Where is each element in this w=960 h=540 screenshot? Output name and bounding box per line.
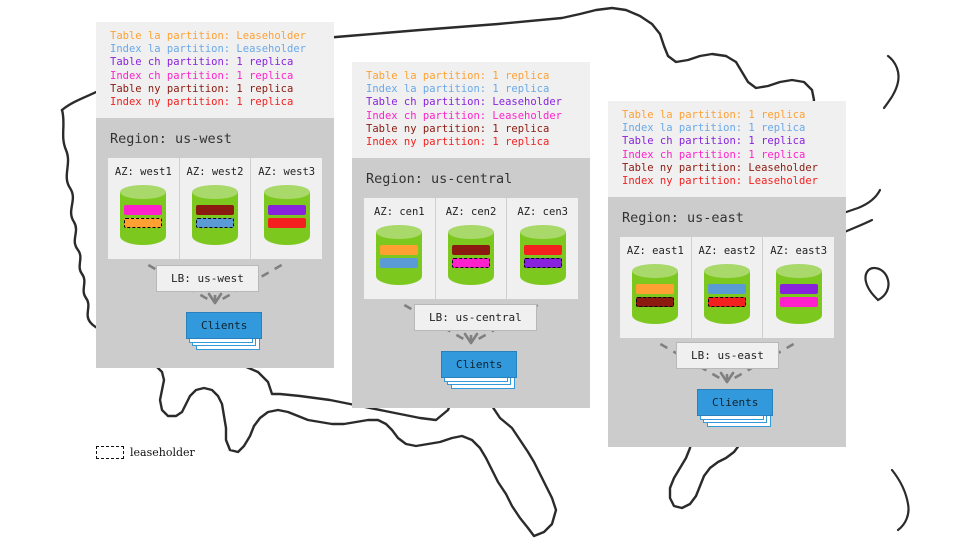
legend-line: Index la partition: 1 replica — [366, 83, 580, 96]
legend-line: Index ny partition: 1 replica — [366, 136, 580, 149]
load-balancer-us-east[interactable]: LB: us-east — [676, 342, 779, 369]
replica-stripes — [452, 245, 490, 271]
legend-line: Table ny partition: 1 replica — [110, 83, 324, 96]
legend-line: Table ch partition: 1 replica — [622, 135, 836, 148]
legend-line: Index ny partition: Leaseholder — [622, 175, 836, 188]
replica-stripe-table-la — [636, 284, 674, 294]
replica-stripes — [196, 205, 234, 231]
replica-stripe-table-ch — [268, 205, 306, 215]
database-cylinder-icon[interactable] — [776, 264, 822, 328]
clients-label[interactable]: Clients — [441, 351, 517, 378]
replica-stripes — [780, 284, 818, 310]
az-row: AZ: west1AZ: west2AZ: west3 — [108, 158, 322, 259]
az-label: AZ: east3 — [763, 245, 834, 257]
replica-stripes — [380, 245, 418, 271]
replica-stripe-table-ch — [780, 284, 818, 294]
az-label: AZ: cen3 — [507, 206, 578, 218]
legend-line: Index la partition: Leaseholder — [110, 43, 324, 56]
clients-stack-us-west[interactable]: Clients — [186, 312, 262, 352]
az-row: AZ: cen1AZ: cen2AZ: cen3 — [364, 198, 578, 299]
clients-label[interactable]: Clients — [697, 389, 773, 416]
replica-stripes — [124, 205, 162, 231]
replica-stripe-index-ch — [780, 297, 818, 307]
az-cell-west1[interactable]: AZ: west1 — [108, 158, 180, 259]
clients-stack-us-central[interactable]: Clients — [441, 351, 517, 391]
legend-line: Index ch partition: Leaseholder — [366, 110, 580, 123]
az-cell-east2[interactable]: AZ: east2 — [692, 237, 764, 338]
legend-line: Table ny partition: 1 replica — [366, 123, 580, 136]
database-cylinder-icon[interactable] — [520, 225, 566, 289]
database-cylinder-icon[interactable] — [704, 264, 750, 328]
database-cylinder-icon[interactable] — [448, 225, 494, 289]
az-label: AZ: east2 — [692, 245, 763, 257]
legend-line: Index ch partition: 1 replica — [110, 70, 324, 83]
load-balancer-us-west[interactable]: LB: us-west — [156, 265, 259, 292]
az-row: AZ: east1AZ: east2AZ: east3 — [620, 237, 834, 338]
replica-stripe-index-ny — [268, 218, 306, 228]
replica-stripe-index-la-leaseholder — [196, 218, 234, 228]
partition-legend-us-west: Table la partition: LeaseholderIndex la … — [96, 22, 334, 118]
legend-line: Table ch partition: Leaseholder — [366, 96, 580, 109]
replica-stripe-table-la-leaseholder — [124, 218, 162, 228]
replica-stripe-table-la — [380, 245, 418, 255]
replica-stripe-table-ny — [452, 245, 490, 255]
legend-line: Table la partition: Leaseholder — [110, 30, 324, 43]
leaseholder-legend: leaseholder — [96, 446, 195, 459]
replica-stripe-index-ch — [124, 205, 162, 215]
partition-legend-us-central: Table la partition: 1 replicaIndex la pa… — [352, 62, 590, 158]
replica-stripes — [708, 284, 746, 310]
az-label: AZ: east1 — [620, 245, 691, 257]
az-label: AZ: west1 — [108, 166, 179, 178]
replica-stripe-table-ch-leaseholder — [524, 258, 562, 268]
replica-stripes — [268, 205, 306, 231]
legend-line: Table la partition: 1 replica — [366, 70, 580, 83]
legend-line: Index ch partition: 1 replica — [622, 149, 836, 162]
az-cell-east3[interactable]: AZ: east3 — [763, 237, 834, 338]
diagram-canvas: Table la partition: LeaseholderIndex la … — [0, 0, 960, 540]
clients-label[interactable]: Clients — [186, 312, 262, 339]
replica-stripe-table-ny — [196, 205, 234, 215]
az-cell-cen2[interactable]: AZ: cen2 — [436, 198, 508, 299]
database-cylinder-icon[interactable] — [192, 185, 238, 249]
database-cylinder-icon[interactable] — [632, 264, 678, 328]
legend-line: Table ny partition: Leaseholder — [622, 162, 836, 175]
legend-line: Index la partition: 1 replica — [622, 122, 836, 135]
az-cell-east1[interactable]: AZ: east1 — [620, 237, 692, 338]
replica-stripe-index-ch-leaseholder — [452, 258, 490, 268]
az-cell-west2[interactable]: AZ: west2 — [180, 158, 252, 259]
az-label: AZ: cen1 — [364, 206, 435, 218]
region-title: Region: us-east — [608, 197, 846, 237]
region-title: Region: us-central — [352, 158, 590, 198]
replica-stripe-index-la — [708, 284, 746, 294]
replica-stripe-table-ny-leaseholder — [636, 297, 674, 307]
az-cell-west3[interactable]: AZ: west3 — [251, 158, 322, 259]
database-cylinder-icon[interactable] — [376, 225, 422, 289]
region-title: Region: us-west — [96, 118, 334, 158]
leaseholder-legend-label: leaseholder — [130, 446, 195, 459]
replica-stripes — [524, 245, 562, 271]
replica-stripe-index-la — [380, 258, 418, 268]
legend-line: Index ny partition: 1 replica — [110, 96, 324, 109]
az-label: AZ: west3 — [251, 166, 322, 178]
az-label: AZ: west2 — [180, 166, 251, 178]
az-cell-cen3[interactable]: AZ: cen3 — [507, 198, 578, 299]
partition-legend-us-east: Table la partition: 1 replicaIndex la pa… — [608, 101, 846, 197]
load-balancer-us-central[interactable]: LB: us-central — [414, 304, 537, 331]
database-cylinder-icon[interactable] — [264, 185, 310, 249]
legend-line: Table la partition: 1 replica — [622, 109, 836, 122]
leaseholder-swatch-icon — [96, 446, 124, 459]
az-label: AZ: cen2 — [436, 206, 507, 218]
clients-stack-us-east[interactable]: Clients — [697, 389, 773, 429]
legend-line: Table ch partition: 1 replica — [110, 56, 324, 69]
replica-stripe-index-ny — [524, 245, 562, 255]
replica-stripes — [636, 284, 674, 310]
database-cylinder-icon[interactable] — [120, 185, 166, 249]
az-cell-cen1[interactable]: AZ: cen1 — [364, 198, 436, 299]
replica-stripe-index-ny-leaseholder — [708, 297, 746, 307]
